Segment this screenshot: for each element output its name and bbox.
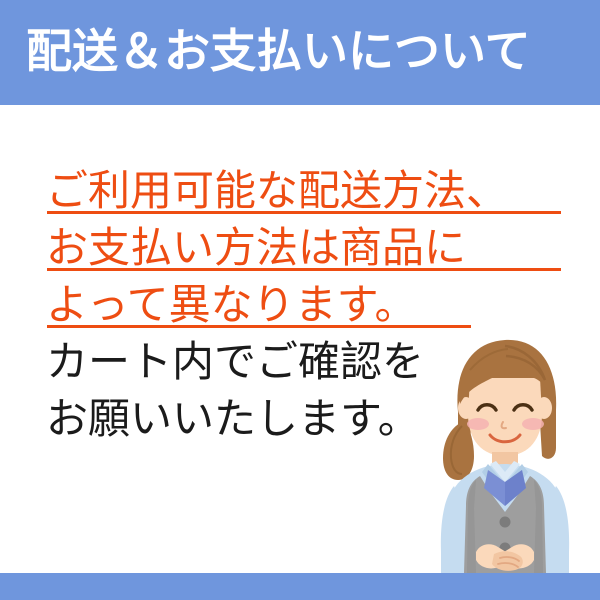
body-line-5: お願いいたします。 (46, 390, 586, 447)
header-band: 配送＆お支払いについて (0, 0, 600, 105)
body-line-2-text: お支払い方法は商品に (46, 223, 466, 272)
body-line-3-text: よって異なります。 (46, 280, 416, 329)
vest-button-upper (500, 517, 511, 528)
body-line-4: カート内でご確認を (46, 333, 586, 390)
underline-rule-1 (47, 211, 561, 214)
body-line-2: お支払い方法は商品に (46, 219, 586, 276)
underline-rule-2 (47, 268, 561, 271)
body-line-1-text: ご利用可能な配送方法、 (46, 166, 508, 215)
underline-rule-3 (47, 325, 471, 328)
body-line-1: ご利用可能な配送方法、 (46, 162, 586, 219)
body-text-block: ご利用可能な配送方法、 お支払い方法は商品に よって異なります。 カート内でご確… (46, 162, 586, 447)
shipping-payment-banner: 配送＆お支払いについて ご利用可能な配送方法、 お支払い方法は商品に よって異な… (0, 0, 600, 600)
page-title: 配送＆お支払いについて (26, 22, 586, 80)
footer-band (0, 573, 600, 600)
body-line-3: よって異なります。 (46, 276, 586, 333)
